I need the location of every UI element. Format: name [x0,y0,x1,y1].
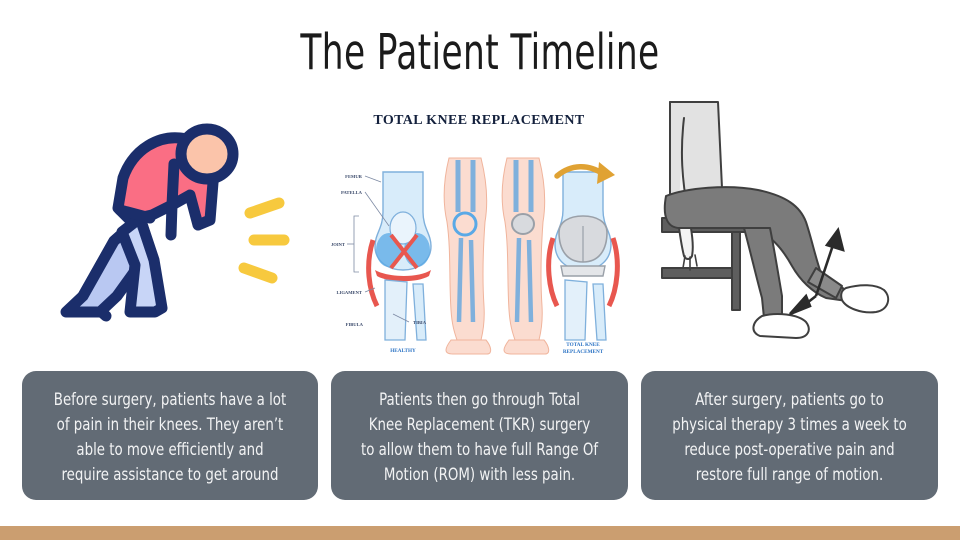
knee-extension-exercise-icon [640,100,938,355]
label-tkr-line1: TOTAL KNEE [566,342,600,348]
caption-box-after-surgery: After surgery, patients go to physical t… [641,371,938,500]
page-title: The Patient Timeline [106,22,855,84]
full-leg-replacement [502,158,548,354]
caption-text-after-surgery: After surgery, patients go to physical t… [670,387,909,487]
label-ligament: LIGAMENT [336,290,362,295]
full-leg-healthy [444,158,490,354]
tkr-knee-closeup: TOTAL KNEE REPLACEMENT [549,172,618,355]
label-fibula: FIBULA [346,322,364,327]
illustration-total-knee-replacement: TOTAL KNEE REPLACEMENT [331,100,627,355]
pain-lines-icon [244,203,284,278]
caption-row: Before surgery, patients have a lot of p… [0,371,960,501]
illustration-row: TOTAL KNEE REPLACEMENT [0,100,960,355]
caption-text-surgery: Patients then go through Total Knee Repl… [360,387,599,487]
illustration-seated-knee-extension [640,100,938,355]
illustration-person-with-knee-pain [22,100,318,355]
bottom-accent-bar [0,526,960,540]
label-knee-joint: KNEE JOINT [331,242,345,247]
healthy-knee-closeup: FEMUR PATELLA KNEE JOINT LIGAMENT FIBULA… [331,172,431,354]
tkr-diagram-title: TOTAL KNEE REPLACEMENT [373,113,585,128]
slide-canvas: The Patient Timeline [0,0,960,540]
knee-pain-figure-icon [22,100,318,355]
tkr-diagram-icon: TOTAL KNEE REPLACEMENT [331,100,627,355]
label-tibia: TIBIA [413,320,427,325]
label-healthy: HEALTHY [390,348,416,354]
label-patella: PATELLA [341,190,363,195]
caption-text-before-surgery: Before surgery, patients have a lot of p… [51,387,289,487]
caption-box-surgery: Patients then go through Total Knee Repl… [331,371,628,500]
label-tkr-line2: REPLACEMENT [563,349,604,355]
caption-box-before-surgery: Before surgery, patients have a lot of p… [22,371,318,500]
label-femur: FEMUR [345,174,363,179]
